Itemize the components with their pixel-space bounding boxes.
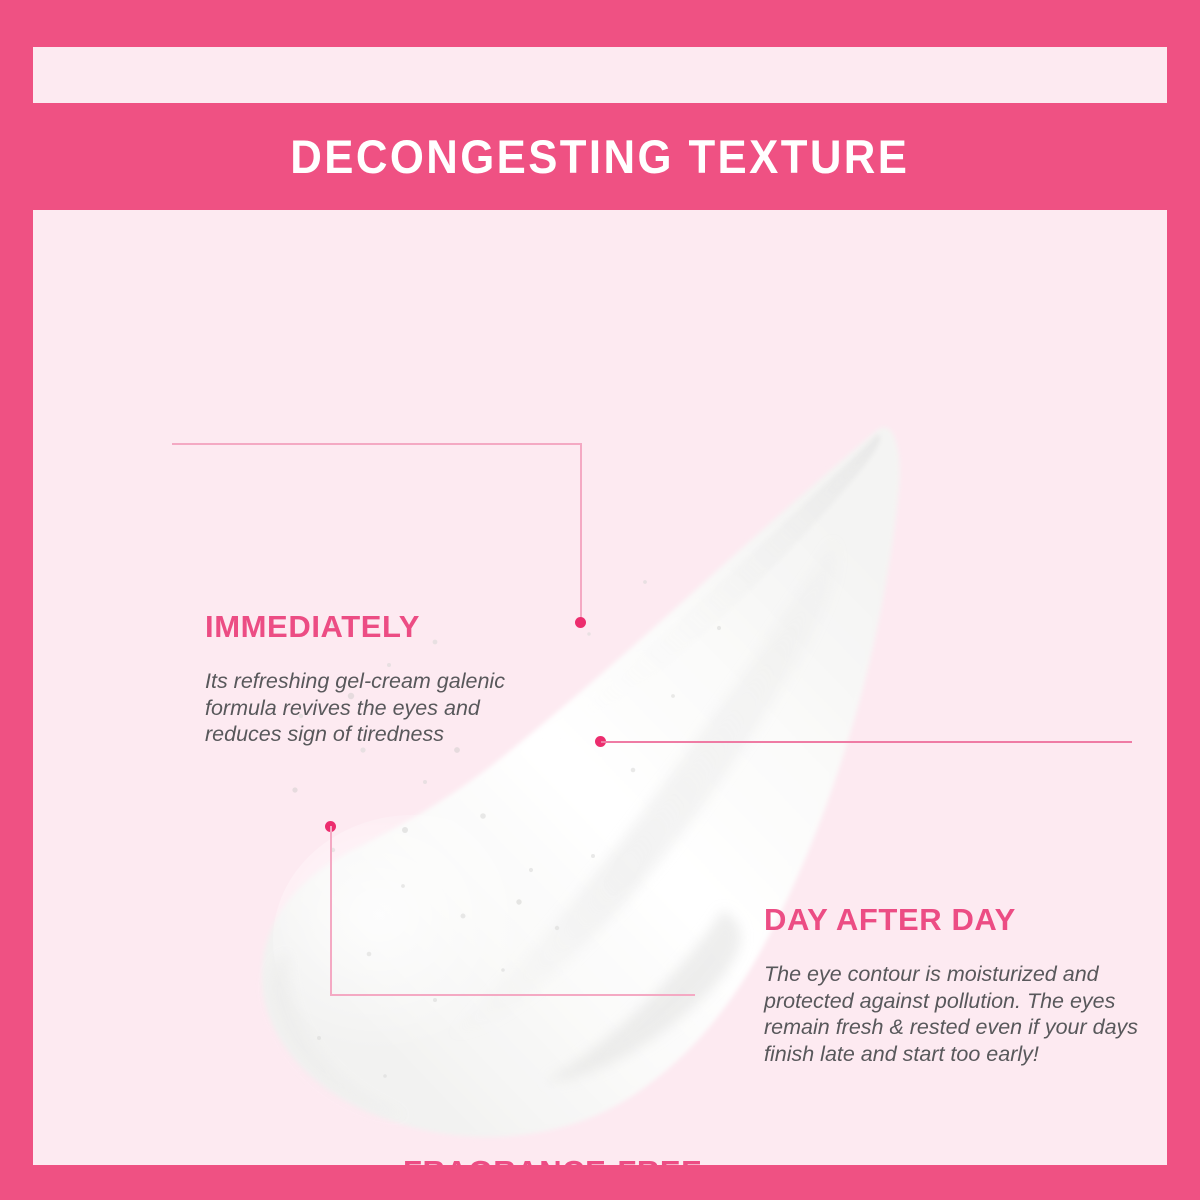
connector-immediately-underline	[172, 443, 581, 445]
callout-day-after-day: DAY AFTER DAY The eye contour is moistur…	[764, 902, 1167, 1067]
callout-immediately-body: Its refreshing gel-cream galenic formula…	[205, 668, 555, 748]
callout-immediately-heading: IMMEDIATELY	[205, 609, 555, 645]
connector-fragrance-free-underline	[330, 994, 695, 996]
connector-immediately-vertical	[580, 443, 582, 623]
callout-day-after-day-heading: DAY AFTER DAY	[764, 902, 1016, 937]
connector-fragrance-free-vertical	[330, 826, 332, 995]
connector-immediately-dot	[575, 617, 586, 628]
main-panel: IMMEDIATELY Its refreshing gel-cream gal…	[33, 210, 1167, 1165]
callout-immediately: IMMEDIATELY Its refreshing gel-cream gal…	[205, 609, 555, 748]
title-bar: DECONGESTING TEXTURE	[0, 103, 1200, 210]
page-title: DECONGESTING TEXTURE	[290, 129, 909, 184]
infographic-page: DECONGESTING TEXTURE	[0, 0, 1200, 1200]
connector-day-after-day-underline	[601, 741, 1132, 743]
callout-fragrance-free: FRAGRANCE-FREE For optimal tolerance	[403, 1154, 723, 1165]
callout-fragrance-free-heading: FRAGRANCE-FREE	[403, 1154, 702, 1165]
top-decorative-band	[33, 47, 1167, 103]
callout-day-after-day-body: The eye contour is moisturized and prote…	[764, 961, 1167, 1067]
